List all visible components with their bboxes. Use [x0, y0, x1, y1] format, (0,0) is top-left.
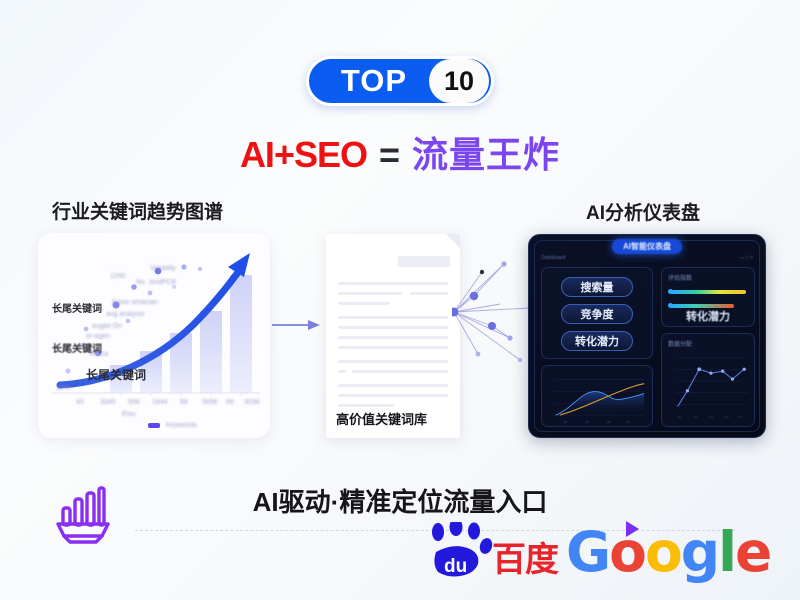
chart-blur-text: No. sindPCB [136, 279, 176, 286]
chart-axis-tick: 5696 [202, 399, 218, 406]
doc-text-line [338, 302, 390, 305]
headline-left: AI+SEO [240, 134, 367, 175]
chart-axis-tick: 1844 [152, 399, 168, 406]
ai-dashboard-panel: AI智能仪表盘 Dashboard — □ × 搜索量 竞争度 转化潜力 [528, 234, 766, 438]
baidu-logo: du 百度 [424, 522, 564, 578]
baidu-wordmark: 百度 [492, 532, 558, 581]
keyword-label: 长尾关键词 [52, 300, 102, 315]
top-badge-word: TOP [309, 63, 429, 99]
chart-axis-tick: 3038 [244, 399, 260, 406]
doc-text-line [338, 292, 402, 295]
score-gauge-panel: 评估指数 转化潜力 [661, 267, 755, 327]
panel-title: 评估指数 [668, 273, 692, 282]
google-letter: o [609, 520, 645, 584]
doc-text-line [338, 282, 448, 285]
distribution-chart-panel: 数据分配 M1M2 M3M4 M5 [661, 333, 755, 427]
metric-pill-conversion[interactable]: 转化潜力 [561, 331, 633, 351]
chart-axis-tick: 69 [226, 399, 234, 406]
area-chart-svg: Q1Q2 Q3Q4 [542, 366, 652, 427]
doc-header-chip [398, 256, 450, 267]
chart-axis-tick: 556 [128, 399, 140, 406]
google-letter: g [681, 520, 718, 584]
chart-legend-swatch [148, 423, 160, 428]
svg-text:M1: M1 [678, 415, 682, 419]
chart-blur-text: er-agen [86, 333, 110, 340]
doc-text-line [410, 292, 448, 295]
doc-text-line [338, 336, 448, 339]
baidu-paw-icon: du [424, 522, 494, 578]
metric-pill-competition[interactable]: 竞争度 [561, 304, 633, 324]
svg-text:du: du [444, 556, 467, 577]
doc-text-line [338, 384, 448, 387]
headline-equals: = [379, 134, 400, 175]
chart-axis-tick: 3345 [100, 399, 116, 406]
doc-text-line [338, 394, 448, 397]
doc-text-line [338, 404, 394, 407]
dashboard-title-badge: AI智能仪表盘 [612, 239, 682, 254]
keyword-label: 长尾关键词 [86, 366, 146, 383]
keyword-trend-chart-card: Volatility No. sindPCB Kaiso amanian avg… [38, 233, 270, 438]
chart-blur-text: 15% [56, 385, 70, 392]
slide-canvas: TOP 10 AI+SEO=流量王炸 行业关键词趋势图谱 AI分析仪表盘 [0, 0, 800, 600]
svg-text:M3: M3 [709, 415, 713, 419]
chart-blur-text: Volatility [150, 265, 176, 272]
google-letter: l [718, 520, 735, 584]
podium-bar-chart-icon [50, 486, 116, 544]
svg-text:M2: M2 [693, 415, 697, 419]
metrics-panel: 搜索量 竞争度 转化潜力 [541, 267, 653, 359]
bottom-tagline: AI驱动·精准定位流量入口 [0, 482, 800, 519]
doc-text-line [352, 370, 448, 373]
score-bar [670, 290, 746, 294]
doc-text-line [338, 360, 448, 363]
doc-text-line [338, 326, 448, 329]
trend-chart-svg [38, 233, 270, 438]
page-title: AI+SEO=流量王炸 [0, 126, 800, 178]
chart-blur-text: avg analysis [106, 311, 145, 318]
doc-text-line [338, 316, 448, 319]
chart-blur-text: Kaiso amanian [112, 299, 158, 306]
chart-axis-tick: 40 [76, 399, 84, 406]
keyword-label: 长尾关键词 [52, 340, 102, 355]
metric-pill-search-volume[interactable]: 搜索量 [561, 277, 633, 297]
trend-area-chart-panel: Q1Q2 Q3Q4 [541, 365, 653, 427]
dashboard-brand-label: Dashboard [541, 255, 565, 261]
doc-text-line [338, 370, 346, 373]
headline-right: 流量王炸 [412, 134, 560, 175]
keyword-network-graph [452, 256, 532, 368]
svg-text:Q3: Q3 [607, 420, 611, 424]
dashboard-window-controls[interactable]: — □ × [739, 255, 753, 261]
svg-text:Q2: Q2 [585, 420, 589, 424]
document-caption: 高价值关键词库 [336, 409, 427, 428]
top-rank-badge: TOP 10 [306, 56, 494, 106]
google-letter: e [735, 520, 770, 584]
chart-axis-tick: 68 [180, 399, 188, 406]
chart-blur-text: euglid On [92, 323, 122, 330]
score-bar-handle[interactable] [668, 303, 673, 308]
score-bar-handle[interactable] [668, 289, 673, 294]
keyword-library-document: 高价值关键词库 [326, 234, 460, 438]
conversion-overlay-label: 转化潜力 [686, 308, 730, 324]
top-badge-number: 10 [429, 59, 489, 103]
chart-blur-text: 1200 [110, 273, 126, 280]
chart-legend-label: Keywords [166, 422, 197, 429]
chart-axis-note: Elsu [122, 411, 136, 418]
google-logo: Google [566, 520, 770, 584]
right-section-caption: AI分析仪表盘 [586, 198, 700, 225]
page-fold-icon [446, 234, 460, 248]
svg-text:Q4: Q4 [626, 420, 630, 424]
left-section-caption: 行业关键词趋势图谱 [52, 197, 223, 224]
svg-text:M4: M4 [725, 415, 729, 419]
doc-text-line [338, 346, 448, 349]
google-letter: o [645, 520, 681, 584]
flow-arrow-icon [272, 318, 320, 332]
svg-text:Q1: Q1 [564, 420, 568, 424]
google-letter: G [566, 520, 609, 584]
svg-text:M5: M5 [738, 415, 742, 419]
line-chart-svg: M1M2 M3M4 M5 [662, 334, 754, 426]
